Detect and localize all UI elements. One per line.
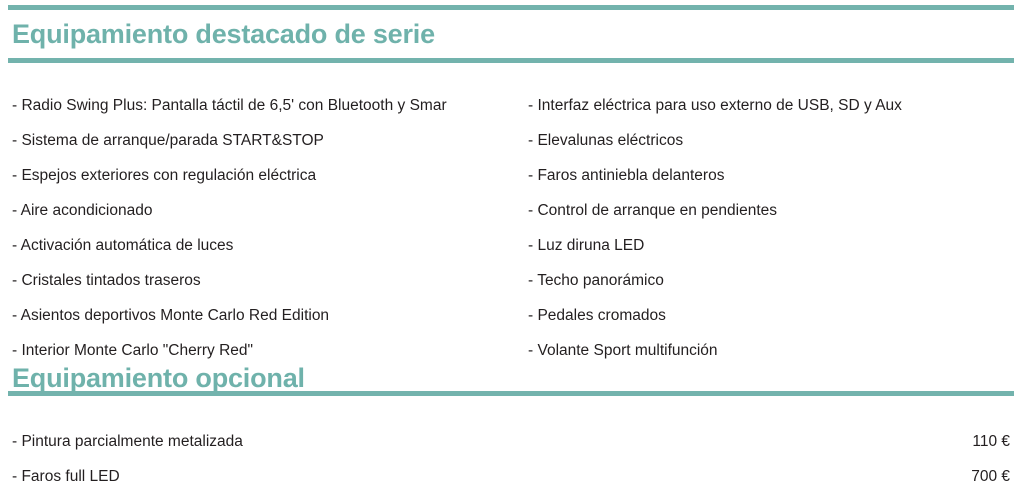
divider-top — [8, 5, 1014, 10]
option-row: - Pintura parcialmente metalizada 110 € — [12, 424, 1010, 459]
divider-under-optional-equipment-title — [8, 391, 1014, 396]
equipment-sheet: Equipamiento destacado de serie - Radio … — [0, 0, 1024, 499]
list-item: - Aire acondicionado — [12, 193, 522, 228]
list-item: - Faros antiniebla delanteros — [528, 158, 1014, 193]
option-price: 700 € — [951, 459, 1010, 494]
list-item: - Cristales tintados traseros — [12, 263, 522, 298]
list-item: - Activación automática de luces — [12, 228, 522, 263]
option-row: - Faros full LED 700 € — [12, 459, 1010, 494]
list-item: - Espejos exteriores con regulación eléc… — [12, 158, 522, 193]
list-item: - Interfaz eléctrica para uso externo de… — [528, 88, 1014, 123]
option-price: 110 € — [952, 424, 1010, 459]
option-name: - Pintura parcialmente metalizada — [12, 424, 952, 459]
list-item: - Elevalunas eléctricos — [528, 123, 1014, 158]
section-title-optional-equipment: Equipamiento opcional — [12, 365, 305, 392]
list-item: - Sistema de arranque/parada START&STOP — [12, 123, 522, 158]
standard-equipment-column-right: - Interfaz eléctrica para uso externo de… — [528, 88, 1014, 368]
list-item: - Pedales cromados — [528, 298, 1014, 333]
list-item: - Asientos deportivos Monte Carlo Red Ed… — [12, 298, 522, 333]
divider-under-standard-equipment-title — [8, 58, 1014, 63]
section-title-standard-equipment: Equipamiento destacado de serie — [12, 21, 435, 48]
list-item: - Control de arranque en pendientes — [528, 193, 1014, 228]
option-name: - Faros full LED — [12, 459, 951, 494]
optional-equipment-list: - Pintura parcialmente metalizada 110 € … — [12, 424, 1010, 494]
list-item: - Luz diruna LED — [528, 228, 1014, 263]
list-item: - Techo panorámico — [528, 263, 1014, 298]
list-item: - Volante Sport multifunción — [528, 333, 1014, 368]
standard-equipment-column-left: - Radio Swing Plus: Pantalla táctil de 6… — [12, 88, 522, 368]
list-item: - Radio Swing Plus: Pantalla táctil de 6… — [12, 88, 522, 123]
